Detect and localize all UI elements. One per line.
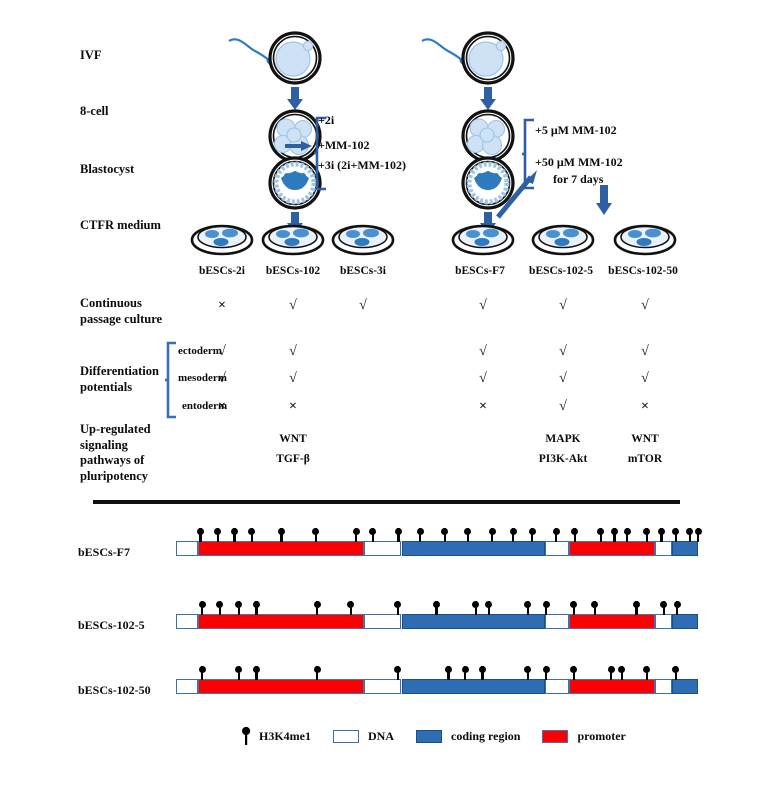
h3k4me1-mark [527, 662, 530, 680]
h3k4me1-head [314, 666, 321, 673]
h3k4me1-stem [199, 528, 201, 542]
h3k4me1-head [660, 601, 667, 608]
h3k4me1-head [216, 601, 223, 608]
h3k4me1-mark [397, 524, 400, 542]
arrow-treatment-to-dish-102-50 [593, 185, 615, 219]
gene-segment-coding [672, 679, 698, 694]
h3k4me1-mark [626, 524, 629, 542]
petri-dish-row [0, 218, 773, 264]
h3k4me1-mark [689, 524, 692, 542]
treatment-50um-label: +50 μM MM-102 [535, 155, 623, 170]
row-label-differentiation-potentials: Differentiation potentials [80, 364, 159, 395]
zygote-icon-right [463, 33, 513, 83]
ectoderm-value-1: √ [263, 344, 323, 360]
h3k4me1-stem [464, 666, 466, 680]
arrow-zygote-to-8cell-right [480, 87, 496, 110]
h3k4me1-head [571, 528, 578, 535]
h3k4me1-head [441, 528, 448, 535]
gene-segment-coding [672, 541, 698, 556]
h3k4me1-head [672, 528, 679, 535]
h3k4me1-mark [238, 597, 241, 615]
h3k4me1-mark [621, 662, 624, 680]
continuous-passage-value-1: √ [263, 298, 323, 314]
h3k4me1-head [312, 528, 319, 535]
h3k4me1-stem [201, 666, 203, 680]
promoter-swatch-icon [542, 730, 568, 743]
h3k4me1-mark [233, 524, 236, 542]
h3k4me1-head [570, 601, 577, 608]
gene-segment-dna [655, 679, 672, 694]
h3k4me1-stem [531, 528, 533, 542]
h3k4me1-head [394, 666, 401, 673]
ectoderm-value-0: √ [192, 344, 252, 360]
legend-label-promoter: promoter [577, 729, 625, 744]
h3k4me1-mark [697, 524, 700, 542]
h3k4me1-stem [527, 666, 529, 680]
h3k4me1-stem [676, 601, 678, 615]
gene-segment-promoter [569, 679, 656, 694]
gene-track-bescs-102-5 [176, 614, 698, 630]
h3k4me1-mark [475, 597, 478, 615]
h3k4me1-mark [531, 524, 534, 542]
h3k4me1-head [658, 528, 665, 535]
h3k4me1-stem [233, 528, 235, 542]
h3k4me1-stem [280, 528, 282, 542]
legend-label-dna: DNA [368, 729, 394, 744]
h3k4me1-stem [512, 528, 514, 542]
continuous-passage-value-3: √ [453, 298, 513, 314]
h3k4me1-mark [219, 597, 222, 615]
h3k4me1-stem [316, 666, 318, 680]
gene-segment-promoter [198, 614, 364, 629]
h3k4me1-head [231, 528, 238, 535]
h3k4me1-head [524, 601, 531, 608]
h3k4me1-mark [372, 524, 375, 542]
h3k4me1-head [278, 528, 285, 535]
gene-segment-dna [545, 679, 569, 694]
h3k4me1-mark [610, 662, 613, 680]
h3k4me1-head [433, 601, 440, 608]
gene-segment-dna [655, 541, 672, 556]
continuous-passage-value-4: √ [533, 298, 593, 314]
h3k4me1-stem [675, 528, 677, 542]
h3k4me1-mark [201, 662, 204, 680]
arrow-zygote-to-8cell [287, 87, 303, 110]
upregulated-line3: pathways of [80, 453, 151, 469]
pathway-cell-bescs-102: WNT TGF-β [248, 430, 338, 469]
h3k4me1-head [445, 666, 452, 673]
gene-track-bescs-102-50 [176, 679, 698, 695]
gene-segment-coding [402, 614, 545, 629]
h3k4me1-head [235, 601, 242, 608]
gene-track-bescs-f7 [176, 541, 698, 557]
pathway-bescs-102-line-1: TGF-β [248, 450, 338, 470]
h3k4me1-stem [475, 601, 477, 615]
h3k4me1-mark [199, 524, 202, 542]
figure-legend: H3K4me1 DNA coding region promoter [240, 726, 626, 746]
h3k4me1-mark [573, 597, 576, 615]
h3k4me1-head [479, 666, 486, 673]
stage-label-blastocyst: Blastocyst [80, 162, 134, 178]
zygote-icon [270, 33, 320, 83]
mesoderm-value-0: √ [192, 371, 252, 387]
h3k4me1-mark [675, 662, 678, 680]
h3k4me1-head [686, 528, 693, 535]
h3k4me1-stem [491, 528, 493, 542]
stage-label-8-cell: 8-cell [80, 104, 108, 120]
h3k4me1-head [314, 601, 321, 608]
h3k4me1-stem [675, 666, 677, 680]
h3k4me1-head [462, 666, 469, 673]
h3k4me1-mark [675, 524, 678, 542]
h3k4me1-mark [467, 524, 470, 542]
h3k4me1-head [235, 666, 242, 673]
h3k4me1-stem [316, 601, 318, 615]
h3k4me1-mark [251, 524, 254, 542]
ectoderm-value-4: √ [533, 344, 593, 360]
h3k4me1-head [199, 601, 206, 608]
h3k4me1-mark [201, 597, 204, 615]
h3k4me1-mark [355, 524, 358, 542]
h3k4me1-head [253, 666, 260, 673]
h3k4me1-mark [315, 524, 318, 542]
petri-dish-bescs-102-5 [533, 226, 593, 254]
pathway-cell-bescs-102-50: WNT mTOR [600, 430, 690, 469]
h3k4me1-stem [255, 601, 257, 615]
h3k4me1-stem [646, 528, 648, 542]
h3k4me1-mark [217, 524, 220, 542]
h3k4me1-mark [594, 597, 597, 615]
h3k4me1-mark [491, 524, 494, 542]
h3k4me1-mark [573, 662, 576, 680]
h3k4me1-head [543, 666, 550, 673]
treatment-mm102-label: +MM-102 [318, 138, 370, 153]
h3k4me1-mark [660, 524, 663, 542]
h3k4me1-stem [315, 528, 317, 542]
h3k4me1-stem [419, 528, 421, 542]
h3k4me1-head [672, 666, 679, 673]
h3k4me1-head [199, 666, 206, 673]
gene-segment-dna [364, 679, 402, 694]
cell-line-label-bescs-102-50: bESCs-102-50 [593, 265, 693, 277]
h3k4me1-stem [573, 666, 575, 680]
h3k4me1-head [611, 528, 618, 535]
h3k4me1-stem [355, 528, 357, 542]
h3k4me1-stem [447, 666, 449, 680]
h3k4me1-head [695, 528, 702, 535]
mesoderm-value-4: √ [533, 371, 593, 387]
h3k4me1-head [570, 666, 577, 673]
petri-dish-bescs-2i [192, 226, 252, 254]
track-label-bescs-f7: bESCs-F7 [78, 545, 130, 560]
lollipop-icon [240, 726, 254, 746]
h3k4me1-stem [251, 528, 253, 542]
h3k4me1-mark [488, 597, 491, 615]
h3k4me1-stem [697, 528, 699, 542]
h3k4me1-mark [350, 597, 353, 615]
h3k4me1-stem [594, 601, 596, 615]
h3k4me1-mark [555, 524, 558, 542]
gene-segment-promoter [198, 541, 364, 556]
h3k4me1-stem [481, 666, 483, 680]
h3k4me1-stem [574, 528, 576, 542]
h3k4me1-stem [545, 601, 547, 615]
h3k4me1-mark [527, 597, 530, 615]
h3k4me1-head [394, 601, 401, 608]
panel-divider [93, 500, 680, 504]
h3k4me1-head [643, 666, 650, 673]
h3k4me1-stem [201, 601, 203, 615]
legend-label-h3k4me1: H3K4me1 [259, 729, 311, 744]
gene-segment-dna [364, 614, 402, 629]
h3k4me1-stem [350, 601, 352, 615]
h3k4me1-mark [444, 524, 447, 542]
h3k4me1-head [485, 601, 492, 608]
continuous-passage-value-5: √ [615, 298, 675, 314]
mesoderm-value-3: √ [453, 371, 513, 387]
h3k4me1-head [489, 528, 496, 535]
h3k4me1-mark [255, 597, 258, 615]
h3k4me1-mark [464, 662, 467, 680]
h3k4me1-stem [397, 601, 399, 615]
h3k4me1-head [618, 666, 625, 673]
h3k4me1-head [369, 528, 376, 535]
dna-swatch-icon [333, 730, 359, 743]
pathway-cell-bescs-102-5: MAPK PI3K-Akt [518, 430, 608, 469]
h3k4me1-head [543, 601, 550, 608]
h3k4me1-stem [397, 666, 399, 680]
h3k4me1-head [464, 528, 471, 535]
upregulated-line2: signaling [80, 438, 151, 454]
h3k4me1-head [529, 528, 536, 535]
differentiation-line2: potentials [80, 380, 159, 396]
stage-label-ivf: IVF [80, 48, 102, 64]
entoderm-value-3: × [453, 399, 513, 415]
gene-segment-dna [364, 541, 402, 556]
entoderm-value-0: × [192, 399, 252, 415]
mesoderm-value-1: √ [263, 371, 323, 387]
h3k4me1-stem [610, 666, 612, 680]
h3k4me1-mark [238, 662, 241, 680]
gene-segment-dna [176, 679, 198, 694]
h3k4me1-head [643, 528, 650, 535]
h3k4me1-stem [613, 528, 615, 542]
h3k4me1-head [395, 528, 402, 535]
petri-dish-bescs-102 [263, 226, 323, 254]
h3k4me1-mark [545, 597, 548, 615]
h3k4me1-mark [280, 524, 283, 542]
gene-segment-coding [672, 614, 698, 629]
h3k4me1-head [472, 601, 479, 608]
h3k4me1-mark [397, 597, 400, 615]
track-label-bescs-102-5: bESCs-102-5 [78, 618, 145, 633]
gene-track-bar [176, 679, 698, 694]
gene-track-bar [176, 541, 698, 556]
gene-segment-dna [545, 541, 569, 556]
petri-dish-bescs-102-50 [615, 226, 675, 254]
small-arrow-to-mm102 [285, 139, 315, 153]
h3k4me1-stem [217, 528, 219, 542]
h3k4me1-stem [238, 666, 240, 680]
h3k4me1-stem [689, 528, 691, 542]
pathway-bescs-102-50-line-1: mTOR [600, 450, 690, 470]
gene-segment-dna [176, 614, 198, 629]
h3k4me1-mark [397, 662, 400, 680]
h3k4me1-head [510, 528, 517, 535]
h3k4me1-mark [646, 662, 649, 680]
h3k4me1-mark [646, 524, 649, 542]
h3k4me1-stem [435, 601, 437, 615]
h3k4me1-mark [316, 597, 319, 615]
h3k4me1-mark [663, 597, 666, 615]
h3k4me1-stem [635, 601, 637, 615]
h3k4me1-stem [663, 601, 665, 615]
h3k4me1-stem [555, 528, 557, 542]
h3k4me1-mark [613, 524, 616, 542]
h3k4me1-mark [676, 597, 679, 615]
h3k4me1-mark [255, 662, 258, 680]
mesoderm-value-5: √ [615, 371, 675, 387]
h3k4me1-mark [600, 524, 603, 542]
gene-segment-coding [402, 541, 545, 556]
h3k4me1-mark [574, 524, 577, 542]
ectoderm-value-3: √ [453, 344, 513, 360]
upregulated-line4: pluripotency [80, 469, 151, 485]
h3k4me1-mark [481, 662, 484, 680]
continuous-passage-line2: passage culture [80, 312, 162, 328]
entoderm-value-4: √ [533, 399, 593, 415]
h3k4me1-mark [635, 597, 638, 615]
ectoderm-value-5: √ [615, 344, 675, 360]
h3k4me1-stem [255, 666, 257, 680]
pathway-bescs-102-5-line-1: PI3K-Akt [518, 450, 608, 470]
h3k4me1-head [553, 528, 560, 535]
h3k4me1-head [347, 601, 354, 608]
h3k4me1-head [248, 528, 255, 535]
petri-dish-bescs-3i [333, 226, 393, 254]
entoderm-value-5: × [615, 399, 675, 415]
h3k4me1-head [624, 528, 631, 535]
upregulated-line1: Up-regulated [80, 422, 151, 438]
entoderm-value-1: × [263, 399, 323, 415]
gene-segment-promoter [569, 614, 656, 629]
h3k4me1-stem [219, 601, 221, 615]
treatment-3i-label: +3i (2i+MM-102) [318, 158, 406, 173]
gene-segment-coding [402, 679, 545, 694]
legend-label-coding-region: coding region [451, 729, 520, 744]
treatment-5um-label: +5 μM MM-102 [535, 123, 617, 138]
track-label-bescs-102-50: bESCs-102-50 [78, 683, 151, 698]
h3k4me1-mark [316, 662, 319, 680]
gene-track-bar [176, 614, 698, 629]
row-label-continuous-passage: Continuous passage culture [80, 296, 162, 327]
h3k4me1-mark [447, 662, 450, 680]
continuous-passage-line1: Continuous [80, 296, 162, 312]
h3k4me1-head [253, 601, 260, 608]
h3k4me1-stem [397, 528, 399, 542]
gene-segment-dna [176, 541, 198, 556]
h3k4me1-stem [626, 528, 628, 542]
h3k4me1-stem [467, 528, 469, 542]
h3k4me1-head [524, 666, 531, 673]
row-label-upregulated-pathways: Up-regulated signaling pathways of pluri… [80, 422, 151, 485]
pathway-bescs-102-line-0: WNT [248, 430, 338, 450]
h3k4me1-stem [444, 528, 446, 542]
pathway-bescs-102-50-line-0: WNT [600, 430, 690, 450]
h3k4me1-stem [621, 666, 623, 680]
h3k4me1-head [197, 528, 204, 535]
continuous-passage-value-0: × [192, 298, 252, 314]
h3k4me1-mark [512, 524, 515, 542]
coding-swatch-icon [416, 730, 442, 743]
h3k4me1-stem [238, 601, 240, 615]
h3k4me1-stem [646, 666, 648, 680]
h3k4me1-head [633, 601, 640, 608]
differentiation-bracket [164, 341, 178, 419]
h3k4me1-stem [527, 601, 529, 615]
h3k4me1-head [214, 528, 221, 535]
gene-segment-dna [545, 614, 569, 629]
h3k4me1-stem [573, 601, 575, 615]
h3k4me1-stem [660, 528, 662, 542]
h3k4me1-head [417, 528, 424, 535]
gene-segment-promoter [569, 541, 656, 556]
h3k4me1-stem [372, 528, 374, 542]
h3k4me1-mark [545, 662, 548, 680]
gene-segment-promoter [198, 679, 364, 694]
differentiation-line1: Differentiation [80, 364, 159, 380]
h3k4me1-head [353, 528, 360, 535]
h3k4me1-head [591, 601, 598, 608]
h3k4me1-stem [545, 666, 547, 680]
gene-segment-dna [655, 614, 672, 629]
pathway-bescs-102-5-line-0: MAPK [518, 430, 608, 450]
h3k4me1-head [674, 601, 681, 608]
treatment-2i-label: +2i [318, 113, 334, 128]
h3k4me1-stem [600, 528, 602, 542]
continuous-passage-value-2: √ [333, 298, 393, 314]
h3k4me1-stem [488, 601, 490, 615]
h3k4me1-mark [419, 524, 422, 542]
h3k4me1-mark [435, 597, 438, 615]
cell-line-label-bescs-3i: bESCs-3i [313, 265, 413, 277]
h3k4me1-head [597, 528, 604, 535]
petri-dish-bescs-f7 [453, 226, 513, 254]
h3k4me1-head [608, 666, 615, 673]
